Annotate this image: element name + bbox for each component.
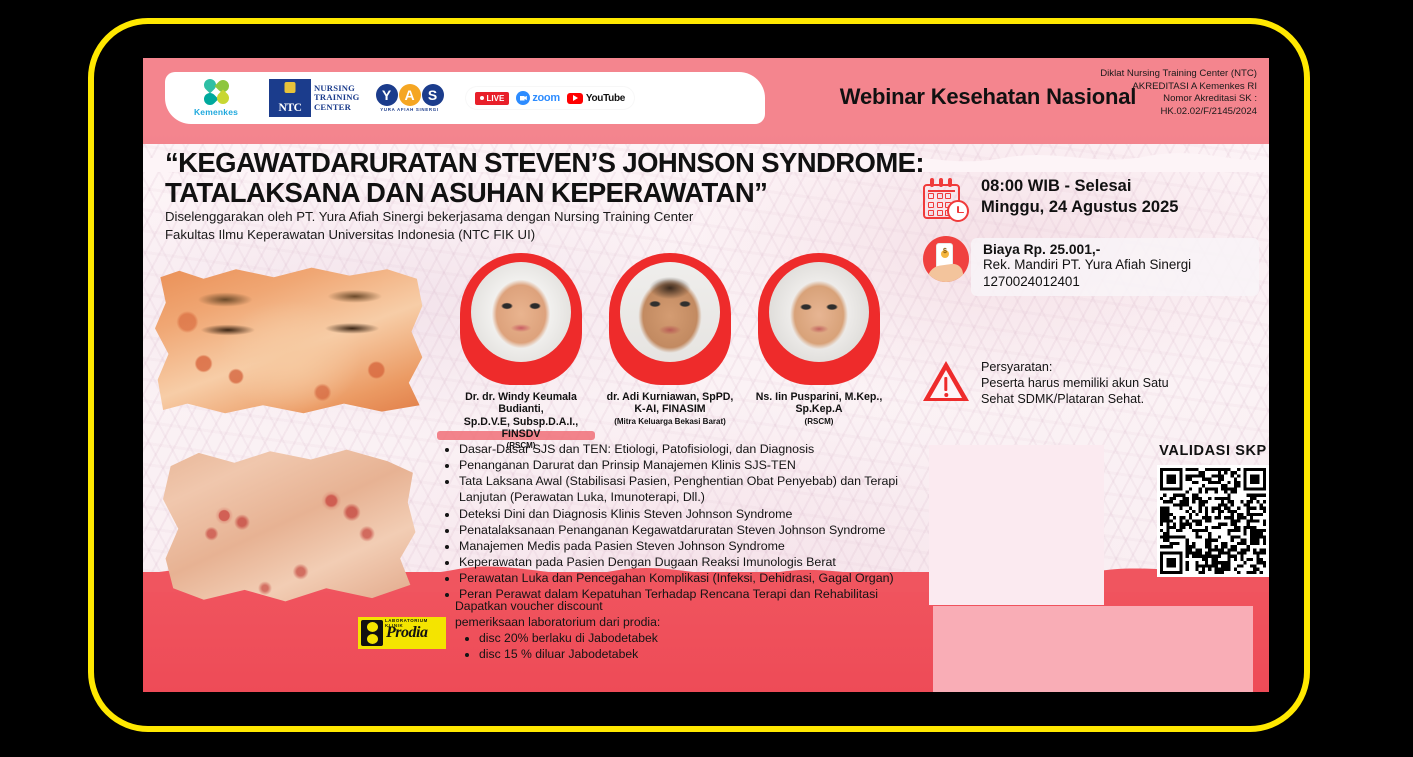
prodia-caption: LABORATORIUM KLINIK bbox=[385, 618, 446, 628]
speaker-name-line-1: dr. Adi Kurniawan, SpPD, bbox=[598, 391, 742, 403]
yas-letter-y: Y bbox=[376, 84, 398, 106]
ntc-logo: NTC NURSING TRAINING CENTER bbox=[269, 79, 360, 117]
avatar bbox=[620, 262, 720, 362]
payment-account-number: 1270024012401 bbox=[983, 274, 1251, 291]
yas-letter-a: A bbox=[399, 84, 421, 106]
ntc-word-line3: CENTER bbox=[314, 103, 360, 113]
accreditation-line-4: HK.02.02/F/2145/2024 bbox=[1027, 106, 1257, 119]
requirements-text: Persyaratan: Peserta harus memiliki akun… bbox=[981, 360, 1169, 408]
qr-code-canvas[interactable] bbox=[1160, 468, 1266, 574]
speaker-name-line-1: Ns. Iin Pusparini, M.Kep., bbox=[747, 391, 891, 403]
skp-title: VALIDASI SKP bbox=[1148, 443, 1269, 459]
requirements-line-1: Peserta harus memiliki akun Satu bbox=[981, 376, 1169, 392]
speaker-card: dr. Adi Kurniawan, SpPD, K-AI, FINASIM (… bbox=[598, 253, 742, 426]
accreditation-line-1: Diklat Nursing Training Center (NTC) bbox=[1027, 68, 1257, 81]
topic-item: Deteksi Dini dan Diagnosis Klinis Steven… bbox=[459, 506, 943, 522]
speaker-photo-frame bbox=[609, 253, 731, 385]
warning-triangle-icon bbox=[923, 361, 969, 403]
schedule-row: 08:00 WIB - Selesai Minggu, 24 Agustus 2… bbox=[923, 176, 1259, 222]
speaker-name-line-2: Sp.D.V.E, Subsp.D.A.I., FINSDV bbox=[449, 416, 593, 441]
voucher-item: disc 20% berlaku di Jabodetabek bbox=[479, 631, 775, 647]
ntc-shield-icon: NTC bbox=[269, 79, 311, 117]
organizer-line-2: Fakultas Ilmu Keperawatan Universitas In… bbox=[165, 226, 845, 244]
topic-item: Penanganan Darurat dan Prinsip Manajemen… bbox=[459, 457, 943, 473]
topic-item: Tata Laksana Awal (Stabilisasi Pasien, P… bbox=[459, 473, 943, 505]
event-date: Minggu, 24 Agustus 2025 bbox=[981, 197, 1178, 218]
placeholder-box-pink bbox=[933, 606, 1253, 692]
speaker-affiliation: (Mitra Keluarga Bekasi Barat) bbox=[598, 417, 742, 426]
speaker-card: Dr. dr. Windy Keumala Budianti, Sp.D.V.E… bbox=[449, 253, 593, 450]
youtube-play-icon bbox=[567, 93, 583, 104]
topic-item: Penatalaksanaan Penanganan Kegawatdarura… bbox=[459, 522, 943, 538]
payment-bank: Rek. Mandiri PT. Yura Afiah Sinergi bbox=[983, 257, 1251, 274]
speakers-row: Dr. dr. Windy Keumala Budianti, Sp.D.V.E… bbox=[443, 253, 943, 443]
live-badge: LIVE bbox=[475, 92, 510, 105]
requirements-row: Persyaratan: Peserta harus memiliki akun… bbox=[923, 360, 1259, 408]
speaker-name: dr. Adi Kurniawan, SpPD, K-AI, FINASIM bbox=[598, 391, 742, 416]
requirements-heading: Persyaratan: bbox=[981, 360, 1169, 376]
prodia-logo: LABORATORIUM KLINIK Prodia bbox=[358, 617, 446, 649]
poster-stage: Kemenkes NTC NURSING TRAINING CENTER Y A… bbox=[0, 0, 1413, 757]
event-time: 08:00 WIB - Selesai bbox=[981, 176, 1178, 197]
placeholder-box-light bbox=[929, 445, 1104, 605]
qr-code[interactable] bbox=[1157, 465, 1269, 577]
topic-item: Keperawatan pada Pasien Dengan Dugaan Re… bbox=[459, 554, 943, 570]
speaker-name-line-2: K-AI, FINASIM bbox=[598, 403, 742, 415]
topics-list: Dasar-Dasar SJS dan TEN: Etiologi, Patof… bbox=[443, 441, 943, 602]
accreditation-block: Diklat Nursing Training Center (NTC) AKR… bbox=[1027, 68, 1257, 119]
accreditation-line-3: Nomor Akreditasi SK : bbox=[1027, 93, 1257, 106]
yas-letter-s: S bbox=[422, 84, 444, 106]
speaker-photo-frame bbox=[460, 253, 582, 385]
page-title-line-1: “KEGAWATDARURATAN STEVEN’S JOHNSON SYNDR… bbox=[165, 148, 965, 178]
payment-row: Biaya Rp. 25.001,- Rek. Mandiri PT. Yura… bbox=[923, 236, 1259, 282]
webinar-poster: Kemenkes NTC NURSING TRAINING CENTER Y A… bbox=[143, 58, 1269, 692]
speaker-card: Ns. Iin Pusparini, M.Kep., Sp.Kep.A (RSC… bbox=[747, 253, 891, 426]
requirements-line-2: Sehat SDMK/Plataran Sehat. bbox=[981, 392, 1169, 408]
clinical-photo-face-rash bbox=[155, 258, 425, 418]
voucher-text: Dapatkan voucher discount pemeriksaan la… bbox=[455, 599, 775, 662]
topics-section: Dasar-Dasar SJS dan TEN: Etiologi, Patof… bbox=[443, 441, 943, 602]
streaming-platforms-badge: LIVE zoom YouTube bbox=[466, 87, 635, 109]
kemenkes-flower-icon bbox=[203, 79, 229, 105]
kemenkes-label: Kemenkes bbox=[194, 107, 238, 117]
organizer-subtitle: Diselenggarakan oleh PT. Yura Afiah Sine… bbox=[165, 208, 845, 243]
live-dot-icon bbox=[480, 96, 484, 100]
yas-logo: Y A S YURA AFIAH SINERGI bbox=[376, 84, 444, 112]
zoom-camera-icon bbox=[516, 91, 530, 105]
speaker-name-line-1: Dr. dr. Windy Keumala Budianti, bbox=[449, 391, 593, 416]
voucher-intro-line-1: Dapatkan voucher discount bbox=[455, 599, 775, 615]
speaker-name: Dr. dr. Windy Keumala Budianti, Sp.D.V.E… bbox=[449, 391, 593, 440]
ntc-abbrev: NTC bbox=[278, 102, 301, 114]
sponsor-logo-bar: Kemenkes NTC NURSING TRAINING CENTER Y A… bbox=[165, 72, 765, 124]
speaker-name-line-2: Sp.Kep.A bbox=[747, 403, 891, 415]
skp-validation-block: VALIDASI SKP bbox=[1148, 443, 1269, 577]
speaker-affiliation: (RSCM) bbox=[747, 417, 891, 426]
prodia-mark-icon bbox=[361, 620, 383, 646]
speaker-name: Ns. Iin Pusparini, M.Kep., Sp.Kep.A bbox=[747, 391, 891, 416]
payment-card: Biaya Rp. 25.001,- Rek. Mandiri PT. Yura… bbox=[971, 238, 1259, 296]
zoom-label: zoom bbox=[532, 92, 560, 104]
voucher-discount-list: disc 20% berlaku di Jabodetabekdisc 15 %… bbox=[479, 631, 775, 662]
avatar bbox=[471, 262, 571, 362]
avatar bbox=[769, 262, 869, 362]
topic-item: Manajemen Medis pada Pasien Steven Johns… bbox=[459, 538, 943, 554]
clinical-photo-hand-lesions bbox=[163, 443, 418, 608]
live-label: LIVE bbox=[487, 94, 505, 103]
kemenkes-logo: Kemenkes bbox=[179, 79, 253, 117]
voucher-intro-line-2: pemeriksaan laboratorium dari prodia: bbox=[455, 615, 775, 631]
accreditation-line-2: AKREDITASI A Kemenkes RI bbox=[1027, 81, 1257, 94]
voucher-item: disc 15 % diluar Jabodetabek bbox=[479, 647, 775, 663]
zoom-badge: zoom bbox=[516, 91, 560, 105]
yas-tagline: YURA AFIAH SINERGI bbox=[380, 107, 439, 112]
page-title: “KEGAWATDARURATAN STEVEN’S JOHNSON SYNDR… bbox=[165, 148, 965, 209]
topic-item: Perawatan Luka dan Pencegahan Komplikasi… bbox=[459, 570, 943, 586]
organizer-line-1: Diselenggarakan oleh PT. Yura Afiah Sine… bbox=[165, 208, 845, 226]
payment-phone-icon bbox=[923, 236, 969, 282]
calendar-clock-icon bbox=[923, 178, 969, 222]
event-info-column: 08:00 WIB - Selesai Minggu, 24 Agustus 2… bbox=[923, 176, 1259, 408]
page-title-line-2: TATALAKSANA DAN ASUHAN KEPERAWATAN” bbox=[165, 178, 965, 208]
youtube-label: YouTube bbox=[586, 93, 625, 104]
speaker-photo-frame bbox=[758, 253, 880, 385]
ntc-wordmark: NURSING TRAINING CENTER bbox=[314, 84, 360, 113]
topic-item: Dasar-Dasar SJS dan TEN: Etiologi, Patof… bbox=[459, 441, 943, 457]
payment-fee: Biaya Rp. 25.001,- bbox=[983, 242, 1251, 257]
youtube-badge: YouTube bbox=[567, 93, 625, 104]
